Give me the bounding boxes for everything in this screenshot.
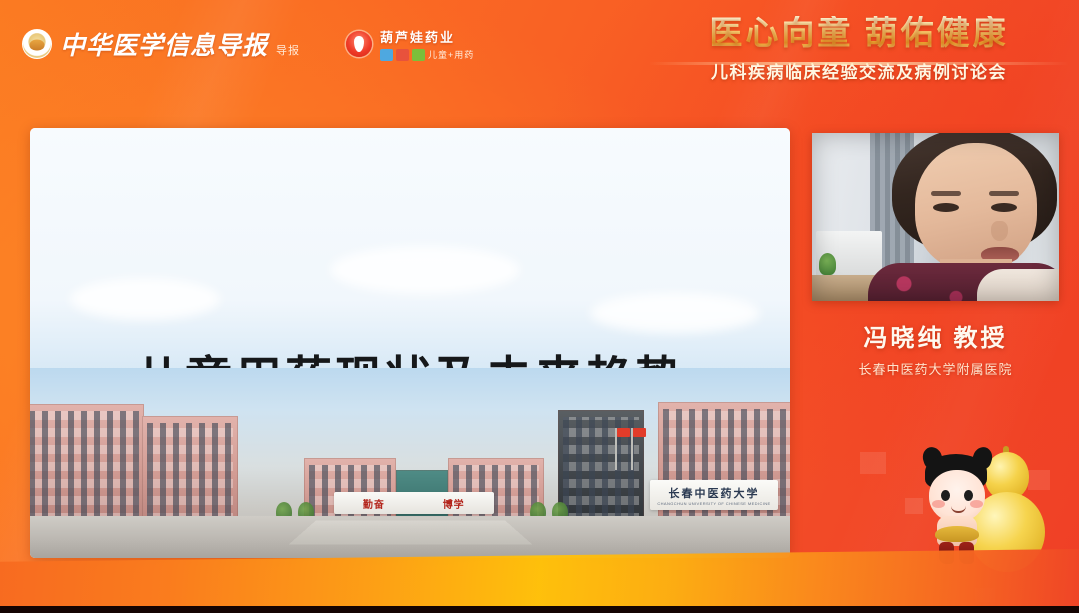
campus-gate-sign: 长春中医药大学 CHANGCHUN UNIVERSITY OF CHINESE …	[650, 480, 778, 510]
speaker-name: 冯晓纯 教授	[812, 318, 1059, 353]
cma-wordmark: 中华医学信息导报	[60, 26, 268, 62]
chip-icon	[396, 49, 409, 61]
cloud	[590, 293, 760, 333]
presentation-slide[interactable]: 儿童用药现状及未来趋势 长春中医药大学附属医院 儿童诊疗中心 长春中医药大学附属…	[30, 128, 790, 558]
speaker-nose	[991, 221, 1008, 241]
campus-photo: 勤奋 博学 长春中医药大学 CHANGCHUN UNIVERSITY OF CH…	[30, 368, 790, 558]
campus-building	[142, 416, 238, 532]
mascot-eye	[964, 490, 973, 501]
speaker-eye	[933, 203, 959, 212]
huluwa-name: 葫芦娃药业	[380, 27, 474, 46]
campus-building	[658, 402, 790, 532]
mascot-leaf-skirt	[935, 526, 979, 542]
cma-seal-icon	[22, 29, 52, 59]
mascot-face	[929, 470, 985, 522]
mascot-smile	[951, 506, 966, 513]
chip-icon	[412, 49, 425, 61]
huluwa-tagline: 儿童+用药	[428, 48, 474, 61]
speaker-face	[915, 143, 1037, 271]
mascot-eye	[941, 490, 950, 501]
cma-logo: 中华医学信息导报 导报	[22, 26, 300, 62]
cloud	[330, 246, 520, 294]
plant-icon	[819, 253, 836, 275]
campus-sign-wall: 勤奋 博学	[334, 492, 494, 514]
speaker-shoulder	[977, 269, 1059, 301]
mascot-blush	[932, 500, 945, 508]
speaker-caption: 冯晓纯 教授 长春中医药大学附属医院	[812, 318, 1059, 378]
decor-square	[860, 452, 886, 474]
campus-plaza	[288, 521, 531, 545]
broadcast-stage: 中华医学信息导报 导报 葫芦娃药业 儿童+用药 医心向童 葫佑健康 儿科疾病临床…	[0, 0, 1079, 613]
event-subtitle: 儿科疾病临床经验交流及病例讨论会	[659, 58, 1059, 83]
mascot-blush	[970, 500, 983, 508]
campus-building	[30, 404, 144, 532]
speaker-brow	[931, 191, 961, 196]
campus-sign-char: 勤奋	[363, 496, 385, 511]
event-banner: 医心向童 葫佑健康 儿科疾病临床经验交流及病例讨论会	[659, 16, 1059, 83]
cma-logo-suffix: 导报	[276, 42, 300, 62]
speaker-figure	[882, 133, 1059, 301]
cloud	[70, 278, 220, 320]
speaker-video-feed[interactable]	[812, 133, 1059, 301]
gourd-flame-icon	[346, 31, 372, 57]
campus-gate-name: 长春中医药大学	[669, 485, 760, 501]
speaker-affiliation: 长春中医药大学附属医院	[812, 359, 1059, 378]
campus-sign-char: 博学	[443, 496, 465, 511]
flag-icon	[615, 428, 617, 470]
bottom-black-strip	[0, 606, 1079, 613]
sponsor-logo-bar: 中华医学信息导报 导报 葫芦娃药业 儿童+用药	[22, 26, 474, 62]
event-title: 医心向童 葫佑健康	[659, 16, 1059, 53]
flag-icon	[631, 428, 633, 470]
huluwa-logo: 葫芦娃药业 儿童+用药	[346, 27, 474, 61]
speaker-brow	[989, 191, 1019, 196]
speaker-eye	[991, 203, 1017, 212]
chip-icon	[380, 49, 393, 61]
campus-gate-en: CHANGCHUN UNIVERSITY OF CHINESE MEDICINE	[657, 501, 770, 506]
